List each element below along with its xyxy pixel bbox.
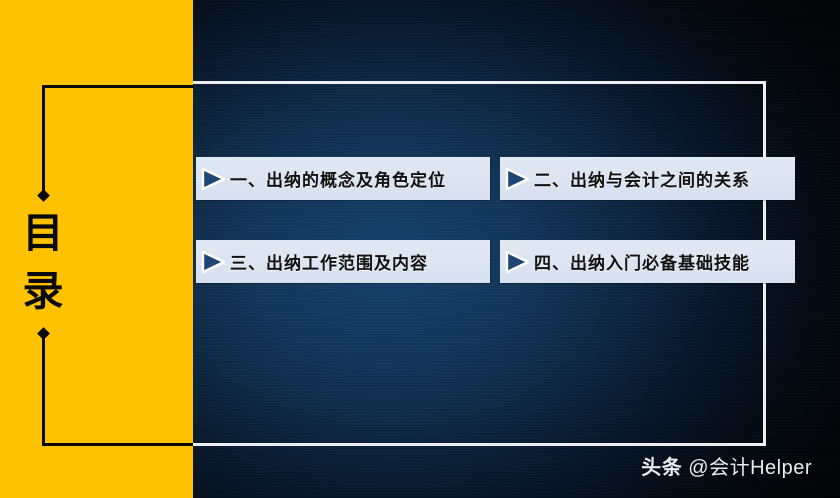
page-title-char-2: 录 bbox=[12, 262, 74, 320]
play-triangle-icon bbox=[500, 240, 534, 283]
watermark-brand: 头条 bbox=[641, 457, 682, 479]
presentation-slide: 目 录 一、出纳的概念及角色定位 二、出纳与会计之间的关系 bbox=[0, 0, 840, 498]
watermark: 头条 @会计Helper bbox=[641, 451, 812, 480]
play-triangle-icon bbox=[196, 240, 230, 283]
frame-line-bottom bbox=[193, 443, 766, 446]
play-triangle-icon bbox=[500, 157, 534, 200]
contents-item-4-label: 四、出纳入门必备基础技能 bbox=[534, 249, 750, 274]
play-triangle-icon bbox=[196, 157, 230, 200]
page-title: 目 录 bbox=[12, 204, 74, 320]
bracket-top-horizontal bbox=[42, 85, 193, 88]
contents-item-3-label: 三、出纳工作范围及内容 bbox=[230, 249, 428, 274]
contents-row-2: 三、出纳工作范围及内容 四、出纳入门必备基础技能 bbox=[196, 240, 796, 283]
contents-item-1[interactable]: 一、出纳的概念及角色定位 bbox=[196, 157, 490, 200]
contents-item-2-label: 二、出纳与会计之间的关系 bbox=[534, 166, 750, 191]
contents-item-3[interactable]: 三、出纳工作范围及内容 bbox=[196, 240, 490, 283]
contents-item-2[interactable]: 二、出纳与会计之间的关系 bbox=[500, 157, 795, 200]
page-title-char-1: 目 bbox=[12, 204, 74, 262]
contents-list: 一、出纳的概念及角色定位 二、出纳与会计之间的关系 三、出纳工作范围及内容 bbox=[196, 157, 796, 323]
watermark-handle: @会计Helper bbox=[682, 457, 812, 479]
contents-item-1-label: 一、出纳的概念及角色定位 bbox=[230, 166, 446, 191]
bracket-bottom-vertical bbox=[42, 334, 45, 446]
contents-item-4[interactable]: 四、出纳入门必备基础技能 bbox=[500, 240, 795, 283]
frame-line-top bbox=[193, 81, 766, 84]
bracket-bottom-horizontal bbox=[42, 443, 193, 446]
contents-row-1: 一、出纳的概念及角色定位 二、出纳与会计之间的关系 bbox=[196, 157, 796, 200]
bracket-top-vertical bbox=[42, 85, 45, 195]
